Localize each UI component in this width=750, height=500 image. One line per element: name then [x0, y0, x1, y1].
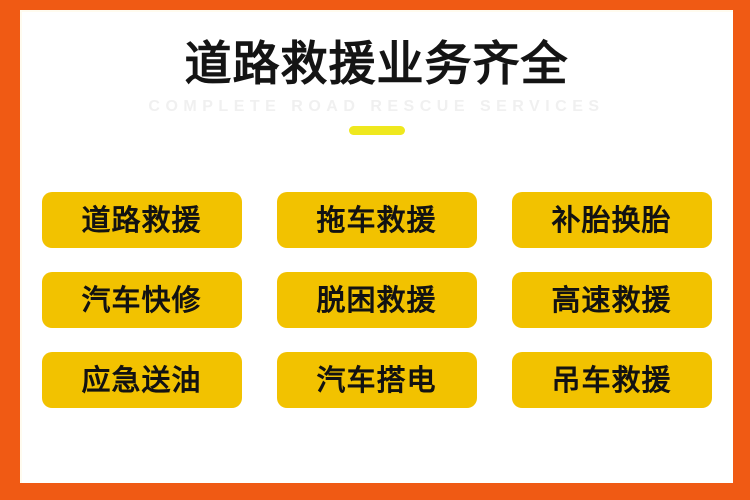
service-button-label: 吊车救援 [551, 366, 671, 395]
service-button-quick-car-repair[interactable]: 汽车快修 [42, 272, 242, 328]
service-button-jump-start[interactable]: 汽车搭电 [277, 352, 477, 408]
service-button-label: 道路救援 [81, 206, 201, 235]
service-button-grid: 道路救援 拖车救援 补胎换胎 汽车快修 脱困救援 高速救援 应急送油 汽车搭电 [40, 192, 713, 408]
service-button-label: 补胎换胎 [551, 206, 671, 235]
service-button-label: 汽车快修 [81, 286, 201, 315]
poster-canvas: 道路救援业务齐全 COMPLETE ROAD RESCUE SERVICES 道… [20, 10, 733, 483]
page-subtitle: COMPLETE ROAD RESCUE SERVICES [20, 98, 733, 116]
poster-header: 道路救援业务齐全 COMPLETE ROAD RESCUE SERVICES [20, 40, 733, 135]
service-button-tire-repair[interactable]: 补胎换胎 [512, 192, 712, 248]
service-button-label: 拖车救援 [316, 206, 436, 235]
service-button-label: 汽车搭电 [316, 366, 436, 395]
service-button-tow-rescue[interactable]: 拖车救援 [277, 192, 477, 248]
page-title: 道路救援业务齐全 [20, 40, 733, 89]
service-button-extrication-rescue[interactable]: 脱困救援 [277, 272, 477, 328]
service-button-highway-rescue[interactable]: 高速救援 [512, 272, 712, 328]
service-button-label: 应急送油 [81, 366, 201, 395]
service-button-road-rescue[interactable]: 道路救援 [42, 192, 242, 248]
poster-frame: 道路救援业务齐全 COMPLETE ROAD RESCUE SERVICES 道… [0, 0, 750, 500]
service-button-emergency-fuel[interactable]: 应急送油 [42, 352, 242, 408]
service-button-label: 高速救援 [551, 286, 671, 315]
service-button-label: 脱困救援 [316, 286, 436, 315]
accent-divider [349, 126, 405, 135]
service-button-crane-rescue[interactable]: 吊车救援 [512, 352, 712, 408]
